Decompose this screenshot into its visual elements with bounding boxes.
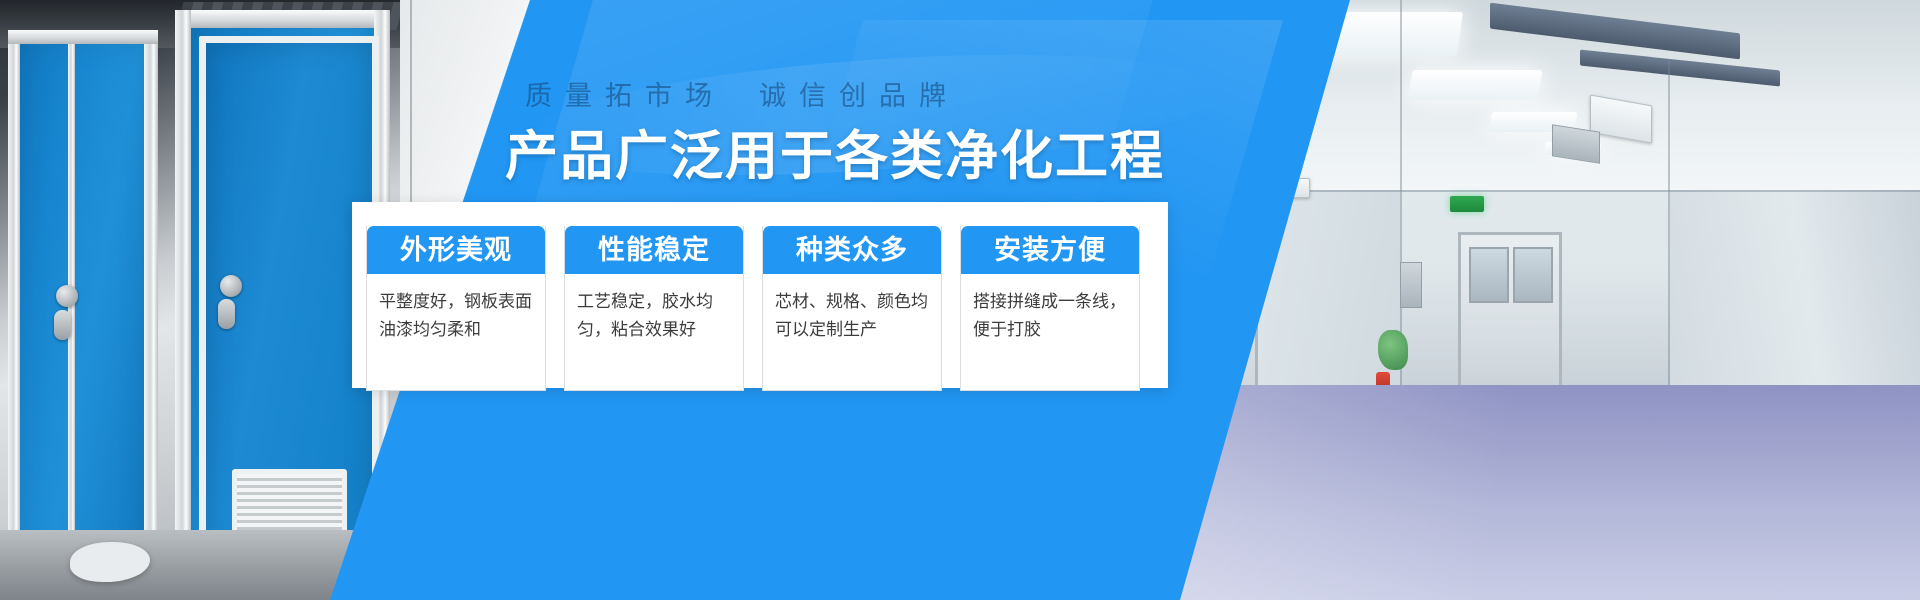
- feature-card[interactable]: 外形美观 平整度好，钢板表面油漆均匀柔和: [366, 226, 546, 391]
- feature-card[interactable]: 安装方便 搭接拼缝成一条线，便于打胶: [960, 226, 1140, 391]
- feature-card-title: 安装方便: [961, 226, 1139, 274]
- feature-card-body: 搭接拼缝成一条线，便于打胶: [961, 274, 1139, 390]
- wall-control-box: [1400, 262, 1422, 308]
- feature-card-body: 工艺稳定，胶水均匀，粘合效果好: [565, 274, 743, 390]
- corridor-floor: [1160, 385, 1920, 600]
- feature-card-body: 平整度好，钢板表面油漆均匀柔和: [367, 274, 545, 390]
- cabin-unit-a: [8, 30, 158, 570]
- exit-sign-icon: [1450, 196, 1484, 212]
- ceiling-light-2: [1407, 70, 1542, 100]
- feature-card-body: 芯材、规格、颜色均可以定制生产: [763, 274, 941, 390]
- feature-card-title: 外形美观: [367, 226, 545, 274]
- potted-plant: [1378, 330, 1408, 370]
- feature-card-list: 外形美观 平整度好，钢板表面油漆均匀柔和 性能稳定 工艺稳定，胶水均匀，粘合效果…: [366, 226, 1156, 391]
- feature-card-title: 种类众多: [763, 226, 941, 274]
- feature-card-title: 性能稳定: [565, 226, 743, 274]
- promo-banner: 质量拓市场诚信创品牌 产品广泛用于各类净化工程 外形美观 平整度好，钢板表面油漆…: [0, 0, 1920, 600]
- door-vent-grille: [232, 469, 347, 537]
- feature-card[interactable]: 种类众多 芯材、规格、颜色均可以定制生产: [762, 226, 942, 391]
- feature-card[interactable]: 性能稳定 工艺稳定，胶水均匀，粘合效果好: [564, 226, 744, 391]
